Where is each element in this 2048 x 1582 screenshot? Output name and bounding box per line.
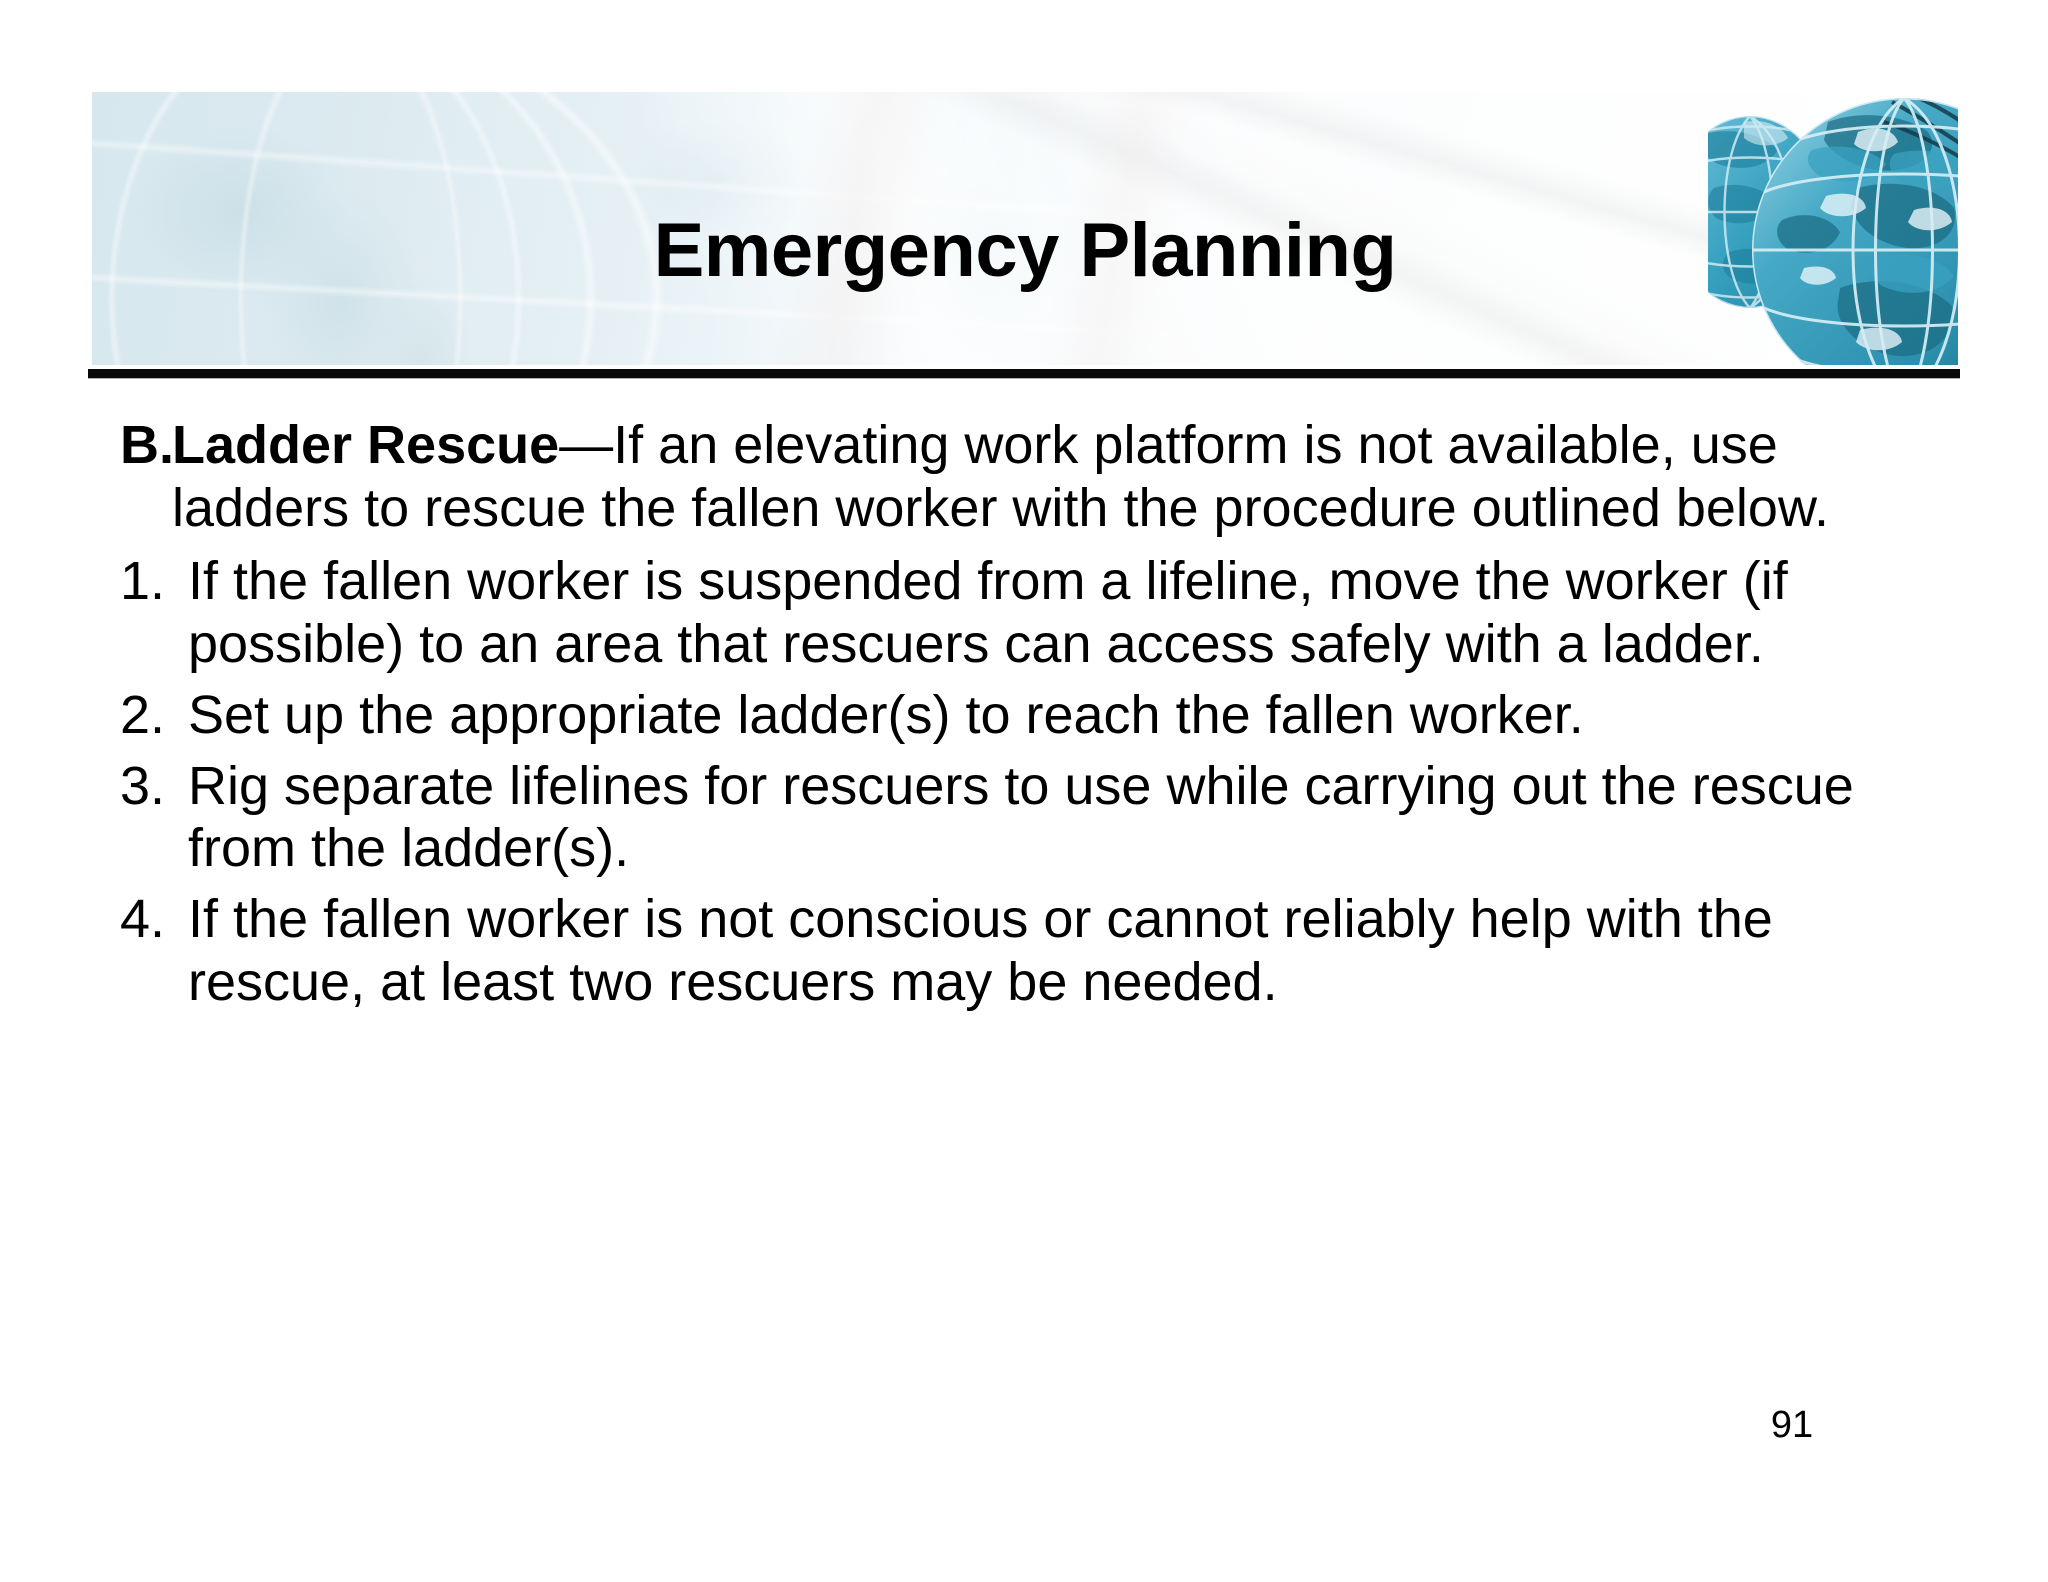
spacer (120, 542, 1940, 550)
list-item-number: 1. (120, 550, 172, 613)
list-item-text: Rig separate lifelines for rescuers to u… (188, 756, 1854, 879)
intro-marker-letter: B. (120, 415, 189, 475)
spacer (120, 676, 1940, 684)
list-item-number: 4. (120, 888, 172, 951)
spacer (120, 880, 1940, 888)
intro-marker: B. (120, 414, 189, 477)
intro-em-dash: — (559, 415, 613, 475)
intro-paragraph: B. Ladder Rescue—If an elevating work pl… (120, 414, 1940, 540)
spacer (120, 747, 1940, 755)
list-item-number: 3. (120, 755, 172, 818)
title-divider-rule (88, 369, 1960, 379)
list-item-number: 2. (120, 684, 172, 747)
list-item: 4.If the fallen worker is not conscious … (120, 888, 1940, 1014)
list-item: 2.Set up the appropriate ladder(s) to re… (120, 684, 1940, 747)
page-title: Emergency Planning (92, 213, 1958, 289)
list-item: 3.Rig separate lifelines for rescuers to… (120, 755, 1940, 881)
slide-body: B. Ladder Rescue—If an elevating work pl… (120, 414, 1940, 1014)
list-item: 1.If the fallen worker is suspended from… (120, 550, 1940, 676)
list-item-text: If the fallen worker is not conscious or… (188, 889, 1773, 1012)
list-item-text: If the fallen worker is suspended from a… (188, 551, 1788, 674)
list-item-text: Set up the appropriate ladder(s) to reac… (188, 685, 1584, 745)
page-number: 91 (1752, 1404, 1832, 1447)
intro-bold-term: Ladder Rescue (172, 415, 559, 475)
